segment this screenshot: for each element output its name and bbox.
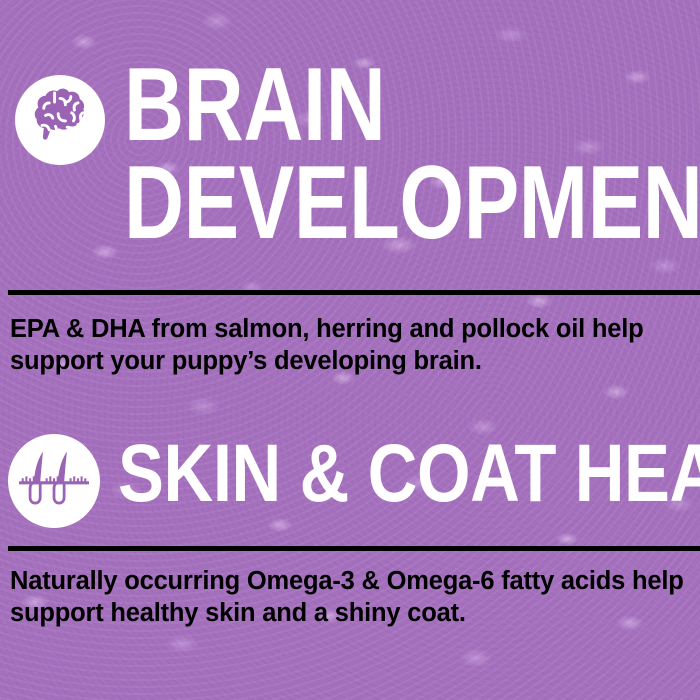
brain-headline-line-2: DEVELOPMENT bbox=[124, 158, 700, 250]
skin-coat-headline-line-1: SKIN & COAT HEALTH bbox=[118, 428, 700, 519]
section-divider-1 bbox=[8, 290, 700, 295]
hair-follicle-icon-badge bbox=[8, 434, 100, 528]
benefits-poster: BRAIN DEVELOPMENT EPA & DHA from salmon,… bbox=[0, 0, 700, 700]
skin-coat-headline: SKIN & COAT HEALTH bbox=[118, 438, 700, 510]
brain-headline: BRAIN DEVELOPMENT bbox=[124, 60, 700, 249]
hair-follicle-icon bbox=[8, 434, 100, 528]
brain-headline-line-1: BRAIN bbox=[124, 60, 700, 152]
skin-coat-body-text: Naturally occurring Omega-3 & Omega-6 fa… bbox=[10, 566, 700, 629]
brain-icon bbox=[15, 75, 105, 165]
section-divider-2 bbox=[8, 546, 700, 551]
brain-icon-badge bbox=[15, 75, 105, 165]
brain-body-text: EPA & DHA from salmon, herring and pollo… bbox=[10, 314, 650, 377]
poster-content: BRAIN DEVELOPMENT EPA & DHA from salmon,… bbox=[0, 0, 700, 700]
